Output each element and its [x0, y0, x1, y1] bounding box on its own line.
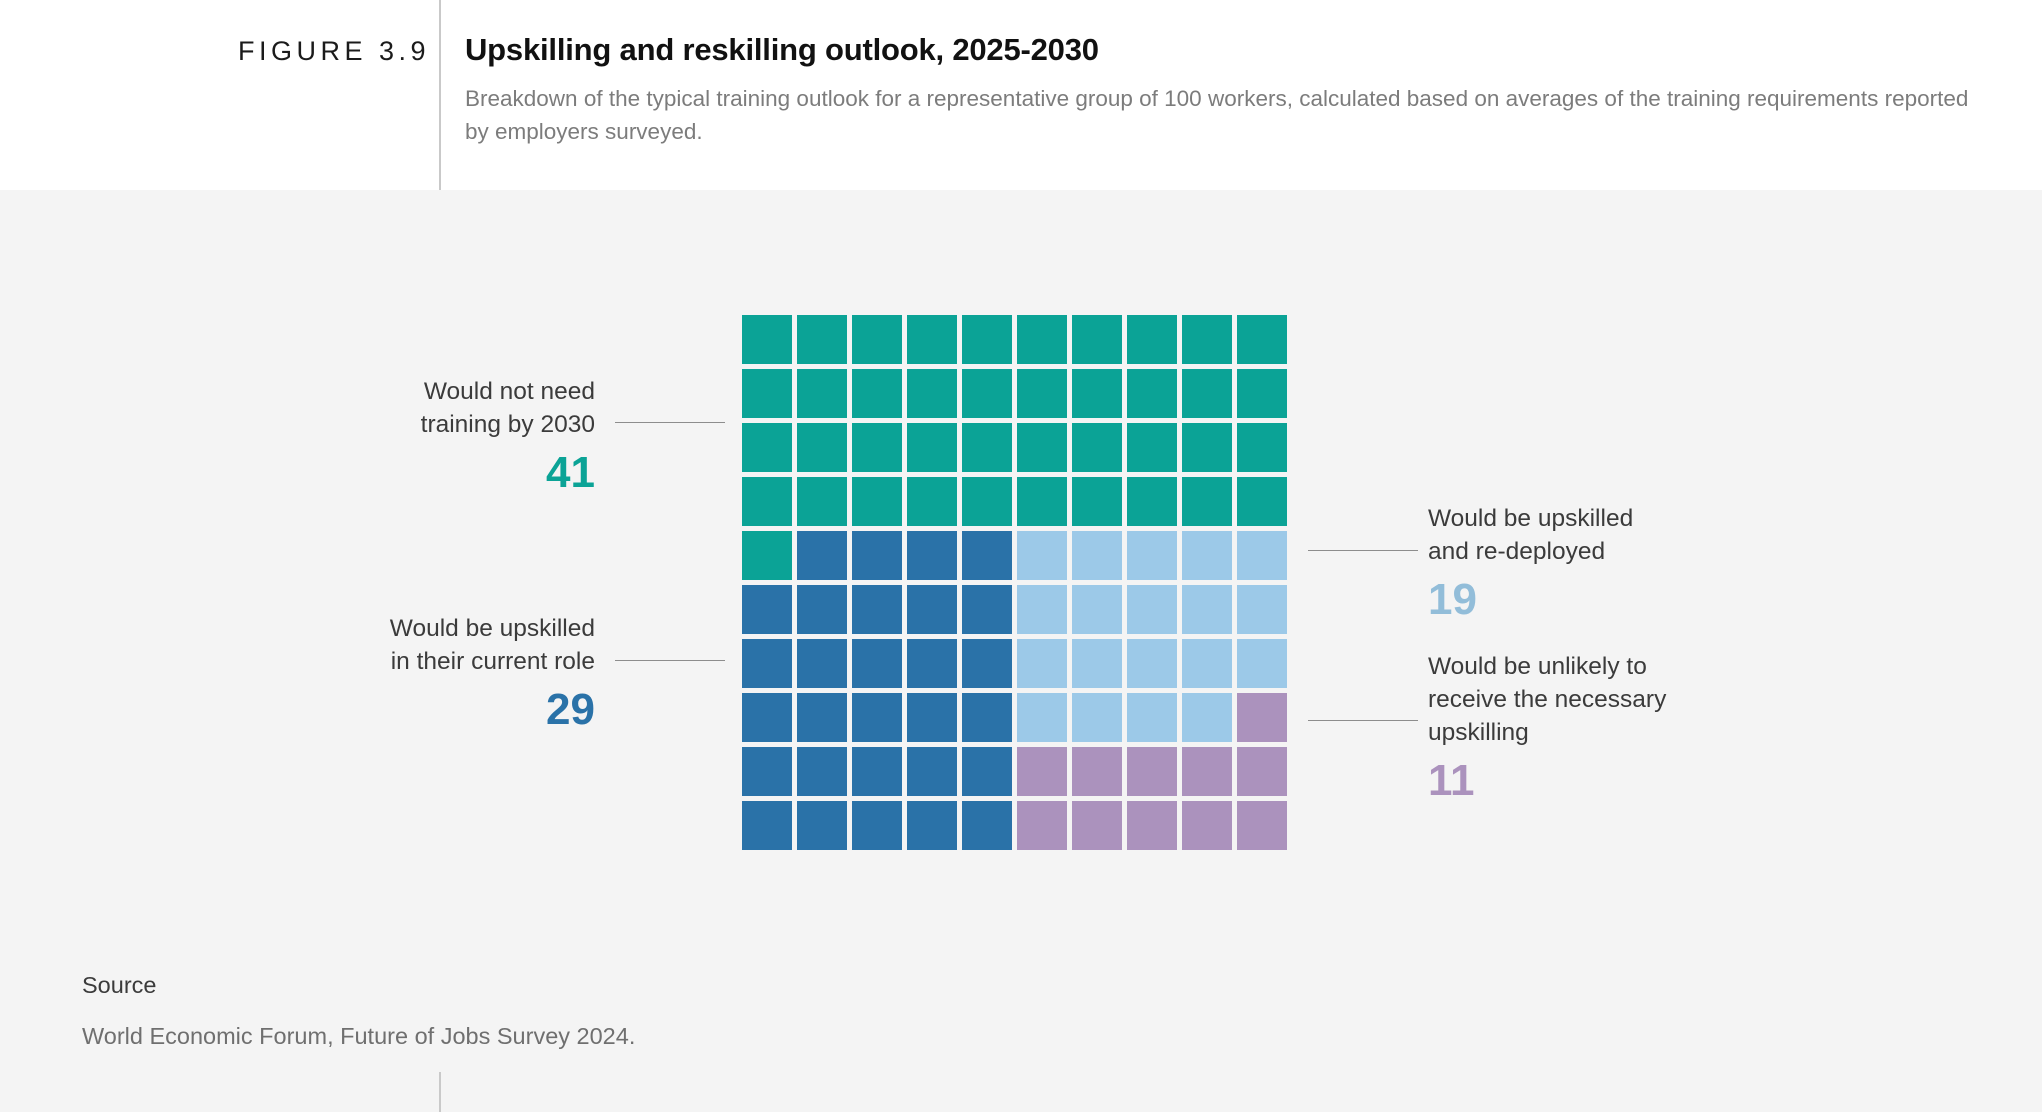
waffle-cell — [1072, 423, 1122, 472]
waffle-cell — [797, 747, 847, 796]
waffle-cell — [1017, 477, 1067, 526]
source-heading: Source — [82, 972, 635, 999]
waffle-cell — [1072, 639, 1122, 688]
waffle-cell — [907, 315, 957, 364]
waffle-cell — [962, 315, 1012, 364]
waffle-cell — [742, 315, 792, 364]
callout-value-redeployed: 19 — [1428, 572, 1758, 627]
waffle-cell — [1017, 531, 1067, 580]
waffle-cell — [797, 693, 847, 742]
waffle-cell — [1237, 315, 1287, 364]
waffle-cell — [1237, 639, 1287, 688]
waffle-cell — [1072, 369, 1122, 418]
page-title: Upskilling and reskilling outlook, 2025-… — [465, 32, 1995, 68]
waffle-cell — [1182, 801, 1232, 850]
waffle-cell — [1017, 369, 1067, 418]
waffle-cell — [1127, 801, 1177, 850]
waffle-cell — [1237, 477, 1287, 526]
waffle-cell — [742, 693, 792, 742]
figure-subtitle: Breakdown of the typical training outloo… — [465, 82, 1980, 150]
waffle-cell — [907, 423, 957, 472]
waffle-cell — [797, 531, 847, 580]
waffle-cell — [797, 639, 847, 688]
waffle-cell — [742, 801, 792, 850]
waffle-cell — [1017, 423, 1067, 472]
waffle-cell — [1072, 531, 1122, 580]
waffle-cell — [1127, 423, 1177, 472]
callout-upskilled-current-role: Would be upskilled in their current role… — [300, 612, 595, 737]
waffle-cell — [1182, 423, 1232, 472]
callout-value-upskilled-current: 29 — [300, 682, 595, 737]
waffle-cell — [907, 639, 957, 688]
waffle-cell — [852, 531, 902, 580]
waffle-cell — [1072, 477, 1122, 526]
waffle-cell — [962, 369, 1012, 418]
header-vertical-divider — [439, 0, 441, 190]
waffle-cell — [1127, 477, 1177, 526]
waffle-cell — [1237, 531, 1287, 580]
waffle-cell — [962, 639, 1012, 688]
waffle-cell — [1017, 693, 1067, 742]
waffle-cell — [742, 585, 792, 634]
waffle-cell — [1127, 747, 1177, 796]
waffle-cell — [852, 315, 902, 364]
waffle-cell — [962, 531, 1012, 580]
waffle-cell — [907, 747, 957, 796]
callout-label-redeployed: Would be upskilled and re-deployed — [1428, 502, 1758, 568]
callout-label-upskilled-current: Would be upskilled in their current role — [300, 612, 595, 678]
waffle-cell — [742, 477, 792, 526]
waffle-cell — [1237, 585, 1287, 634]
waffle-cell — [907, 531, 957, 580]
waffle-cell — [962, 747, 1012, 796]
waffle-cell — [1017, 747, 1067, 796]
waffle-cell — [742, 639, 792, 688]
waffle-cell — [1072, 693, 1122, 742]
waffle-cell — [1182, 477, 1232, 526]
footer-vertical-divider — [439, 1072, 441, 1112]
waffle-cell — [962, 585, 1012, 634]
waffle-cell — [962, 801, 1012, 850]
waffle-cell — [1127, 315, 1177, 364]
waffle-cell — [852, 585, 902, 634]
waffle-cell — [907, 693, 957, 742]
waffle-cell — [797, 423, 847, 472]
waffle-cell — [1237, 747, 1287, 796]
callout-label-unlikely: Would be unlikely to receive the necessa… — [1428, 650, 1768, 749]
waffle-cell — [852, 477, 902, 526]
waffle-cell — [1072, 585, 1122, 634]
waffle-cell — [962, 423, 1012, 472]
waffle-cell — [1182, 369, 1232, 418]
callout-value-no-training: 41 — [330, 445, 595, 500]
waffle-cell — [1237, 369, 1287, 418]
waffle-cell — [907, 369, 957, 418]
waffle-cell — [907, 585, 957, 634]
source-block: Source World Economic Forum, Future of J… — [82, 972, 635, 1050]
leader-line-redeployed — [1308, 550, 1418, 551]
waffle-cell — [852, 747, 902, 796]
title-block: Upskilling and reskilling outlook, 2025-… — [465, 32, 1995, 149]
waffle-cell — [1127, 369, 1177, 418]
waffle-cell — [1017, 639, 1067, 688]
waffle-cell — [1182, 747, 1232, 796]
waffle-cell — [797, 315, 847, 364]
waffle-cell — [852, 369, 902, 418]
waffle-cell — [797, 585, 847, 634]
waffle-cell — [797, 477, 847, 526]
waffle-cell — [797, 369, 847, 418]
waffle-cell — [742, 369, 792, 418]
waffle-cell — [1127, 693, 1177, 742]
leader-line-upskilled-current — [615, 660, 725, 661]
waffle-cell — [1182, 315, 1232, 364]
waffle-cell — [1072, 801, 1122, 850]
callout-would-not-need-training: Would not need training by 2030 41 — [330, 375, 595, 500]
waffle-cell — [962, 693, 1012, 742]
waffle-cell — [1072, 315, 1122, 364]
waffle-cell — [1072, 747, 1122, 796]
chart-panel: Would not need training by 2030 41 Would… — [0, 190, 2042, 1112]
waffle-cell — [742, 531, 792, 580]
waffle-cell — [852, 801, 902, 850]
waffle-cell — [852, 639, 902, 688]
figure-page: FIGURE 3.9 Upskilling and reskilling out… — [0, 0, 2042, 1112]
figure-number-label: FIGURE 3.9 — [180, 36, 430, 67]
waffle-cell — [907, 801, 957, 850]
figure-header: FIGURE 3.9 Upskilling and reskilling out… — [0, 0, 2042, 190]
waffle-cell — [962, 477, 1012, 526]
waffle-cell — [1182, 693, 1232, 742]
waffle-cell — [1127, 585, 1177, 634]
waffle-cell — [907, 477, 957, 526]
waffle-cell — [852, 693, 902, 742]
callout-value-unlikely: 11 — [1428, 753, 1768, 808]
waffle-cell — [1182, 531, 1232, 580]
waffle-cell — [1017, 585, 1067, 634]
waffle-cell — [1127, 531, 1177, 580]
leader-line-unlikely — [1308, 720, 1418, 721]
leader-line-no-training — [615, 422, 725, 423]
source-text: World Economic Forum, Future of Jobs Sur… — [82, 1023, 635, 1050]
waffle-cell — [1182, 585, 1232, 634]
waffle-cell — [742, 423, 792, 472]
waffle-cell — [852, 423, 902, 472]
waffle-cell — [1237, 423, 1287, 472]
waffle-cell — [1237, 801, 1287, 850]
waffle-cell — [742, 747, 792, 796]
waffle-cell — [797, 801, 847, 850]
callout-upskilled-and-redeployed: Would be upskilled and re-deployed 19 — [1428, 502, 1758, 627]
waffle-cell — [1237, 693, 1287, 742]
waffle-chart — [742, 315, 1287, 850]
waffle-cell — [1017, 801, 1067, 850]
waffle-cell — [1127, 639, 1177, 688]
waffle-cell — [1017, 315, 1067, 364]
callout-label-no-training: Would not need training by 2030 — [330, 375, 595, 441]
callout-unlikely-to-receive-upskilling: Would be unlikely to receive the necessa… — [1428, 650, 1768, 808]
waffle-cell — [1182, 639, 1232, 688]
